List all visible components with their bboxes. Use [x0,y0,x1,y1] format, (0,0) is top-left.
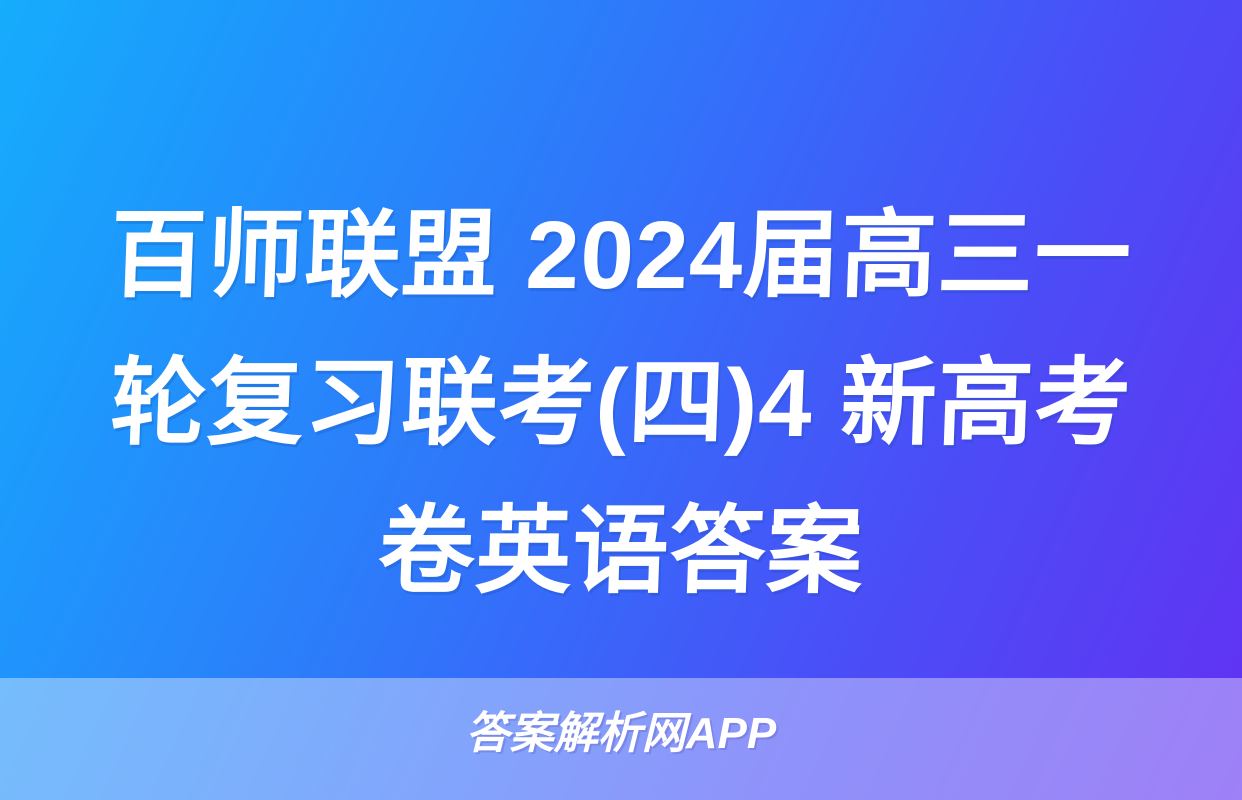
title-line-1: 百师联盟 2024届高三一 [49,182,1192,330]
page-title: 百师联盟 2024届高三一 轮复习联考(四)4 新高考 卷英语答案 [0,182,1242,626]
title-line-3: 卷英语答案 [49,478,1192,626]
title-line-2: 轮复习联考(四)4 新高考 [49,330,1192,478]
footer-watermark: 答案解析网APP [0,706,1242,762]
poster-card: 百师联盟 2024届高三一 轮复习联考(四)4 新高考 卷英语答案 答案解析网A… [0,0,1242,800]
watermark-brand-label: 答案解析网APP [466,706,776,762]
